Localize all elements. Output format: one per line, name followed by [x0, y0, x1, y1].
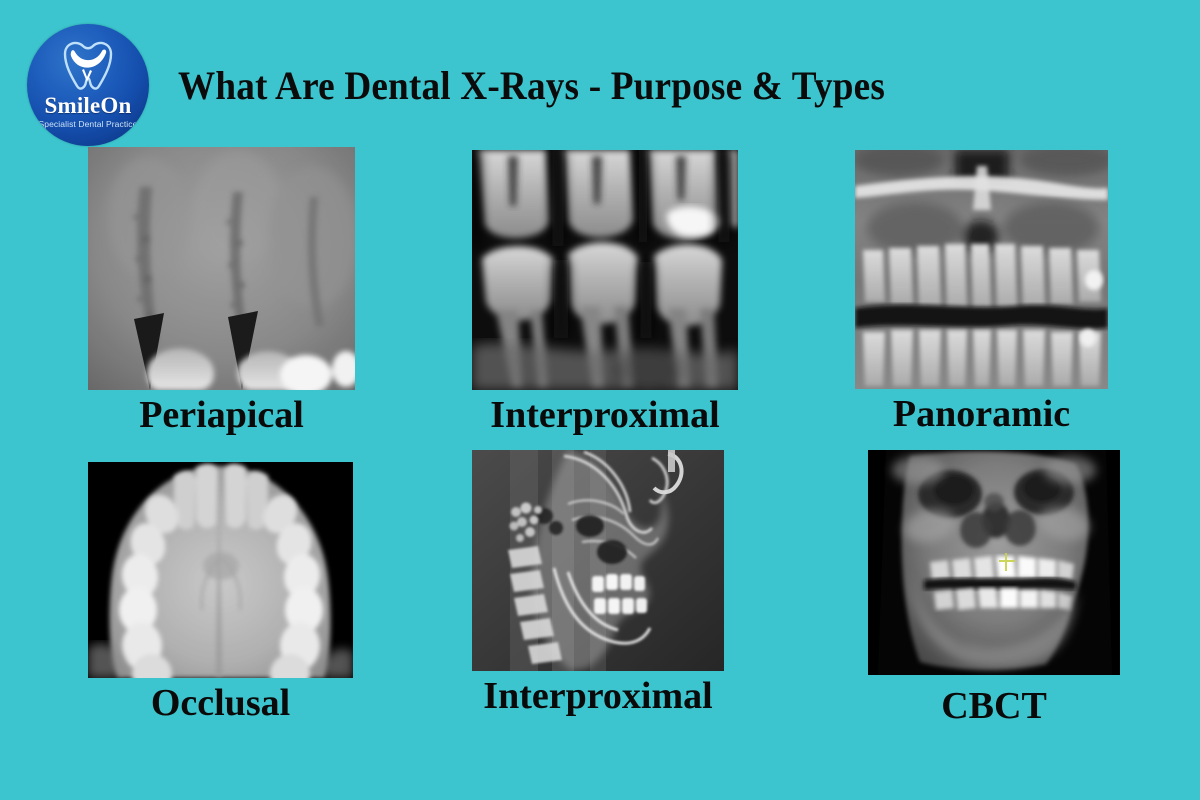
card-caption: Periapical [139, 394, 304, 436]
poster-canvas: SmileOn Specialist Dental Practice What … [0, 0, 1200, 800]
xray-card-cbct: CBCT [868, 450, 1120, 675]
occlusal-xray-image [88, 462, 353, 678]
smileon-logo: SmileOn Specialist Dental Practice [27, 24, 149, 146]
interproximal-bitewing-image [472, 150, 738, 390]
card-caption: CBCT [941, 685, 1047, 727]
logo-brand-name: SmileOn [27, 94, 149, 117]
tooth-smile-icon [57, 38, 119, 92]
xray-card-periapical: Periapical [88, 147, 355, 390]
xray-card-panoramic: Panoramic [855, 150, 1108, 389]
xray-card-occlusal: Occlusal [88, 462, 353, 678]
card-caption: Panoramic [893, 393, 1070, 435]
periapical-xray-image [88, 147, 355, 390]
xray-card-interproximal-bitewing: Interproximal [472, 150, 738, 390]
panoramic-xray-image [855, 150, 1108, 389]
card-caption: Interproximal [483, 675, 712, 717]
card-caption: Interproximal [490, 394, 719, 436]
page-title: What Are Dental X-Rays - Purpose & Types [178, 63, 996, 109]
logo-tagline: Specialist Dental Practice [27, 119, 149, 129]
lateral-cephalometric-image [472, 450, 724, 671]
cbct-skull-image [868, 450, 1120, 675]
xray-card-lateral-ceph: Interproximal [472, 450, 724, 671]
card-caption: Occlusal [151, 682, 290, 724]
